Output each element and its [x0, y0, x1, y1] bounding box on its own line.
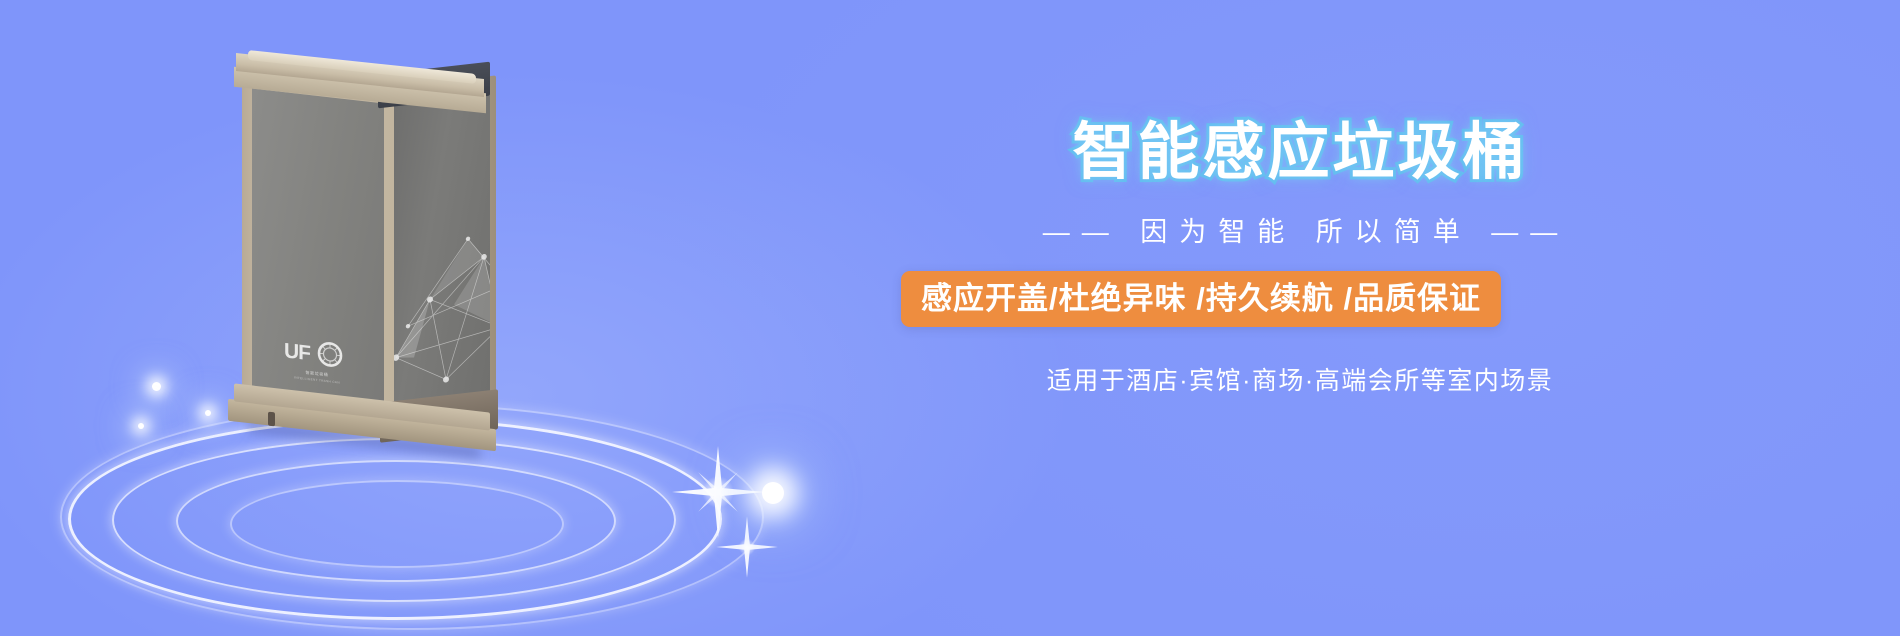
sparkle-glow-orb: [762, 482, 784, 504]
bin-panel-right: [394, 80, 490, 408]
feature-highlight-bar: 感应开盖/杜绝异味 /持久续航 /品质保证: [901, 271, 1501, 327]
svg-text:UF: UF: [284, 339, 311, 365]
banner-copy: 智能感应垃圾桶 —— 因为智能 所以简单 —— 感应开盖/杜绝异味 /持久续航 …: [890, 0, 1790, 636]
glow-dot-3: [138, 423, 144, 429]
feature-highlight-text: 感应开盖/杜绝异味 /持久续航 /品质保证: [921, 282, 1481, 316]
glow-dot-2: [205, 410, 211, 416]
banner-subtitle: —— 因为智能 所以简单 ——: [890, 213, 1710, 251]
polygon-network-graphic: [394, 194, 490, 399]
ripple-ring-inner: [230, 480, 564, 568]
banner-title: 智能感应垃圾桶: [890, 118, 1710, 188]
brand-logo: UF 智能垃圾桶 INTELLIGENT TRASH: [284, 336, 350, 388]
bin-base-latch: [268, 412, 275, 427]
product-banner: UF 智能垃圾桶 INTELLIGENT TRASH: [0, 0, 1900, 636]
trash-bin-3d: UF 智能垃圾桶 INTELLIGENT TRASH: [228, 52, 508, 442]
glow-dot-1: [152, 382, 161, 391]
usage-scene-text: 适用于酒店·宾馆·商场·高端会所等室内场景: [890, 364, 1710, 398]
product-stage: UF 智能垃圾桶 INTELLIGENT TRASH: [0, 0, 840, 636]
